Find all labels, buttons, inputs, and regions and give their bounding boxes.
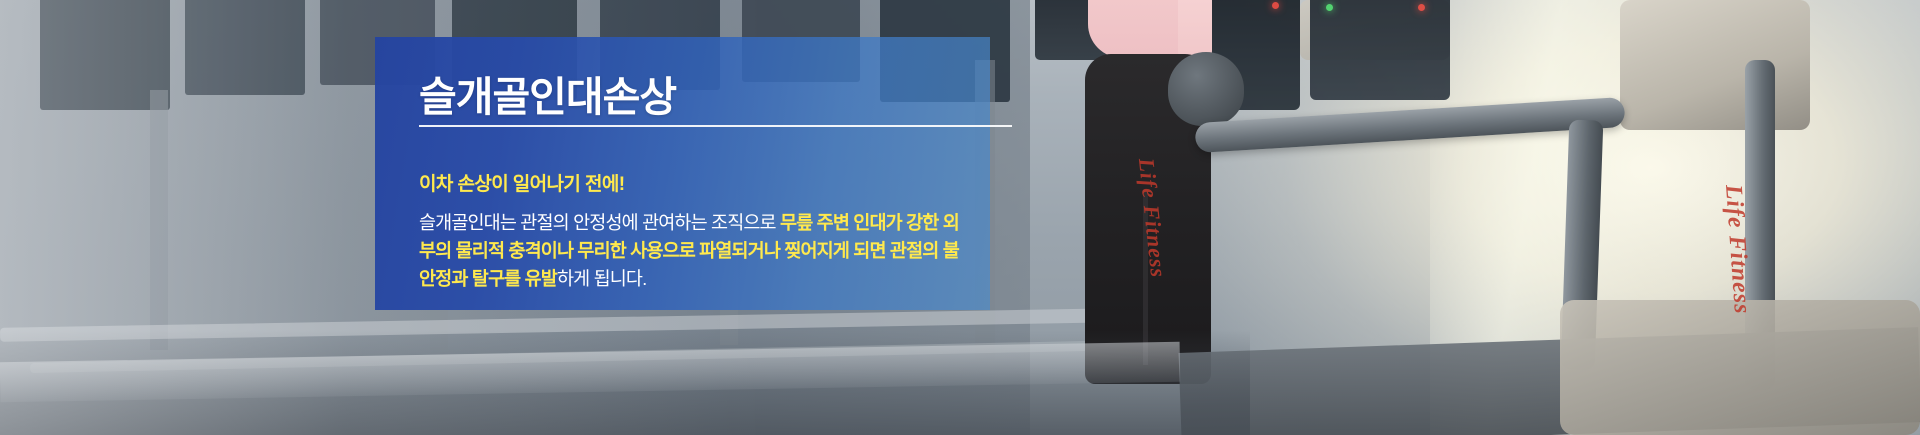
body-text-highlight-1: 무릎 주변 인 (780, 212, 869, 233)
panel-body-copy: 슬개골인대는 관절의 안정성에 관여하는 조직으로 무릎 주변 인대가 강한 외… (419, 209, 964, 293)
info-panel-content: 슬개골인대손상 이차 손상이 일어나기 전에! 슬개골인대는 관절의 안정성에 … (375, 37, 990, 310)
info-panel: 슬개골인대손상 이차 손상이 일어나기 전에! 슬개골인대는 관절의 안정성에 … (375, 37, 990, 310)
panel-subheading: 이차 손상이 일어나기 전에! (419, 175, 990, 194)
knee-injury-banner: Life Fitness Life Fitness 슬개골인대손상 이차 손상이… (0, 0, 1920, 435)
body-text-segment-1: 슬개골인대는 관절의 안정성에 관여하는 조직으로 (419, 212, 780, 233)
body-text-segment-2: 하게 됩니다. (557, 268, 646, 289)
page-title: 슬개골인대손상 (419, 77, 990, 118)
title-divider (419, 125, 1012, 127)
